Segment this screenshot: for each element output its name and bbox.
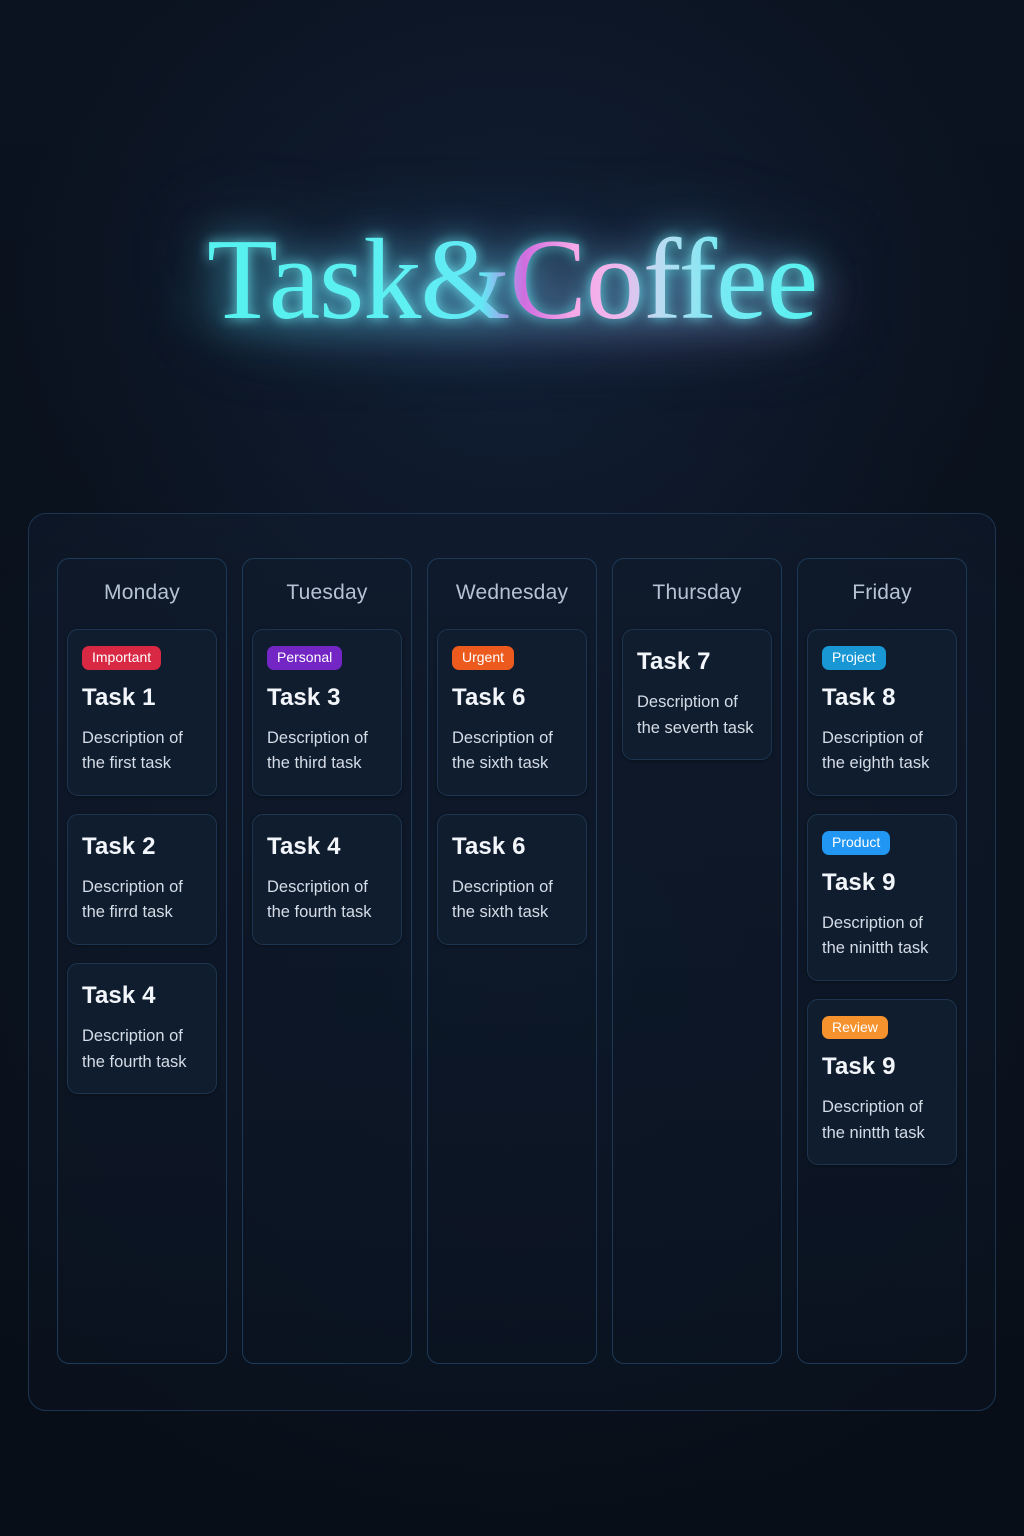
- card-list: PersonalTask 3Description of the third t…: [252, 629, 402, 945]
- task-description: Description of the fourth task: [267, 875, 387, 926]
- task-card[interactable]: ProductTask 9Description of the ninitth …: [807, 814, 957, 981]
- day-column-wednesday[interactable]: WednesdayUrgentTask 6Description of the …: [427, 558, 597, 1364]
- task-title: Task 9: [822, 1053, 942, 1081]
- task-title: Task 7: [637, 648, 757, 676]
- task-title: Task 4: [267, 833, 387, 861]
- day-title: Wednesday: [437, 581, 587, 605]
- task-card[interactable]: PersonalTask 3Description of the third t…: [252, 629, 402, 796]
- day-title: Tuesday: [252, 581, 402, 605]
- task-description: Description of the sixth task: [452, 726, 572, 777]
- task-title: Task 9: [822, 869, 942, 897]
- task-card[interactable]: Task 2Description of the firrd task: [67, 814, 217, 945]
- task-description: Description of the sixth task: [452, 875, 572, 926]
- task-description: Description of the first task: [82, 726, 202, 777]
- task-description: Description of the third task: [267, 726, 387, 777]
- task-badge[interactable]: Project: [822, 646, 886, 670]
- page-title: Task&Coffee: [207, 222, 817, 338]
- day-title: Thursday: [622, 581, 772, 605]
- day-column-thursday[interactable]: ThursdayTask 7Description of the severth…: [612, 558, 782, 1364]
- task-description: Description of the nintth task: [822, 1095, 942, 1146]
- day-columns: MondayImportantTask 1Description of the …: [57, 558, 967, 1364]
- task-badge[interactable]: Important: [82, 646, 161, 670]
- app-header: Task&Coffee: [0, 222, 1024, 392]
- day-title: Friday: [807, 581, 957, 605]
- day-column-tuesday[interactable]: TuesdayPersonalTask 3Description of the …: [242, 558, 412, 1364]
- task-board: MondayImportantTask 1Description of the …: [28, 513, 996, 1411]
- task-badge[interactable]: Urgent: [452, 646, 514, 670]
- task-title: Task 6: [452, 684, 572, 712]
- task-title: Task 1: [82, 684, 202, 712]
- task-title: Task 8: [822, 684, 942, 712]
- card-list: ImportantTask 1Description of the first …: [67, 629, 217, 1094]
- task-title: Task 3: [267, 684, 387, 712]
- card-list: Task 7Description of the severth task: [622, 629, 772, 760]
- task-badge[interactable]: Product: [822, 831, 890, 855]
- card-list: ProjectTask 8Description of the eighth t…: [807, 629, 957, 1165]
- task-description: Description of the firrd task: [82, 875, 202, 926]
- task-card[interactable]: ImportantTask 1Description of the first …: [67, 629, 217, 796]
- day-column-friday[interactable]: FridayProjectTask 8Description of the ei…: [797, 558, 967, 1364]
- task-card[interactable]: ProjectTask 8Description of the eighth t…: [807, 629, 957, 796]
- day-column-monday[interactable]: MondayImportantTask 1Description of the …: [57, 558, 227, 1364]
- task-badge[interactable]: Personal: [267, 646, 342, 670]
- task-badge[interactable]: Review: [822, 1016, 888, 1040]
- task-card[interactable]: Task 6Description of the sixth task: [437, 814, 587, 945]
- task-card[interactable]: UrgentTask 6Description of the sixth tas…: [437, 629, 587, 796]
- task-card[interactable]: ReviewTask 9Description of the nintth ta…: [807, 999, 957, 1166]
- task-description: Description of the eighth task: [822, 726, 942, 777]
- task-title: Task 6: [452, 833, 572, 861]
- task-description: Description of the fourth task: [82, 1024, 202, 1075]
- task-description: Description of the ninitth task: [822, 911, 942, 962]
- day-title: Monday: [67, 581, 217, 605]
- card-list: UrgentTask 6Description of the sixth tas…: [437, 629, 587, 945]
- task-card[interactable]: Task 4Description of the fourth task: [67, 963, 217, 1094]
- task-description: Description of the severth task: [637, 690, 757, 741]
- task-card[interactable]: Task 7Description of the severth task: [622, 629, 772, 760]
- task-title: Task 2: [82, 833, 202, 861]
- task-card[interactable]: Task 4Description of the fourth task: [252, 814, 402, 945]
- task-title: Task 4: [82, 982, 202, 1010]
